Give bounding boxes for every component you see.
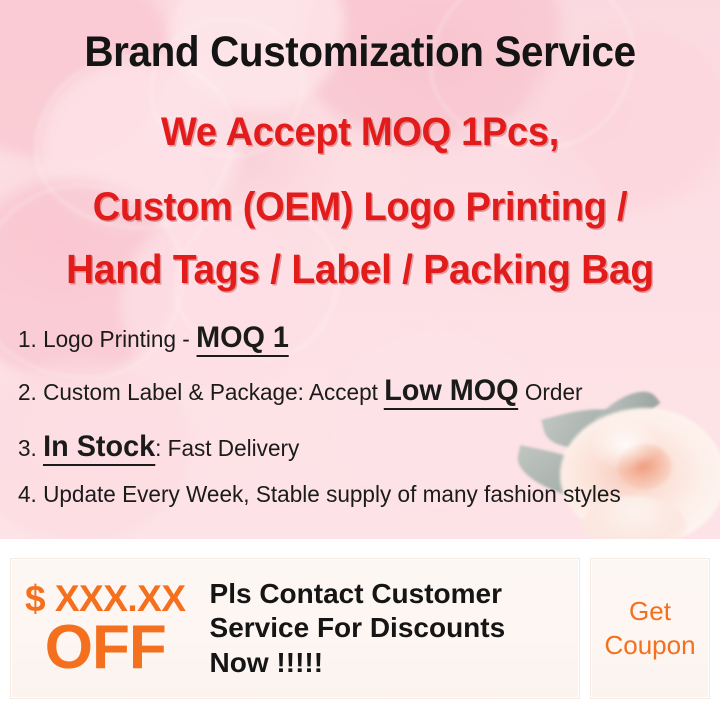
feature-item-1: 1. Logo Printing - MOQ 1 xyxy=(18,323,289,353)
subheadline-line-1: We Accept MOQ 1Pcs, xyxy=(18,110,702,155)
feature-item-4: 4. Update Every Week, Stable supply of m… xyxy=(18,483,621,507)
feature-item-2: 2. Custom Label & Package: Accept Low MO… xyxy=(18,376,583,406)
coupon-message-line-3: Now !!!!! xyxy=(210,646,579,680)
page-title: Brand Customization Service xyxy=(22,28,699,77)
feature-3-suffix: : Fast Delivery xyxy=(155,435,299,461)
feature-3-highlight: In Stock xyxy=(43,430,155,466)
feature-2-highlight: Low MOQ xyxy=(384,374,518,410)
get-coupon-label-line-2: Coupon xyxy=(604,629,695,663)
subheadline-line-2: Custom (OEM) Logo Printing / xyxy=(18,185,702,230)
feature-item-3: 3. In Stock: Fast Delivery xyxy=(18,432,299,462)
coupon-message-line-1: Pls Contact Customer xyxy=(210,577,579,611)
coupon-divider xyxy=(580,558,590,699)
get-coupon-label-line-1: Get xyxy=(629,595,671,629)
feature-1-highlight: MOQ 1 xyxy=(196,321,289,357)
coupon-message-line-2: Service For Discounts xyxy=(210,611,579,645)
feature-4-prefix: 4. Update Every Week, Stable supply of m… xyxy=(18,481,621,507)
coupon-message: Pls Contact Customer Service For Discoun… xyxy=(196,577,579,679)
subheadline-line-3: Hand Tags / Label / Packing Bag xyxy=(18,246,702,293)
feature-2-prefix: 2. Custom Label & Package: Accept xyxy=(18,379,384,405)
get-coupon-button[interactable]: Get Coupon xyxy=(590,558,710,699)
feature-3-prefix: 3. xyxy=(18,435,43,461)
feature-1-prefix: 1. Logo Printing - xyxy=(18,326,196,352)
hero-text-content: Brand Customization Service We Accept MO… xyxy=(0,0,720,539)
feature-2-suffix: Order xyxy=(519,379,583,405)
discount-price-block: $ XXX.XX OFF xyxy=(25,581,196,675)
coupon-card[interactable]: $ XXX.XX OFF Pls Contact Customer Servic… xyxy=(10,558,580,699)
coupon-strip: $ XXX.XX OFF Pls Contact Customer Servic… xyxy=(0,552,720,707)
promo-banner: Brand Customization Service We Accept MO… xyxy=(0,0,720,720)
discount-off-label: OFF xyxy=(45,619,166,676)
